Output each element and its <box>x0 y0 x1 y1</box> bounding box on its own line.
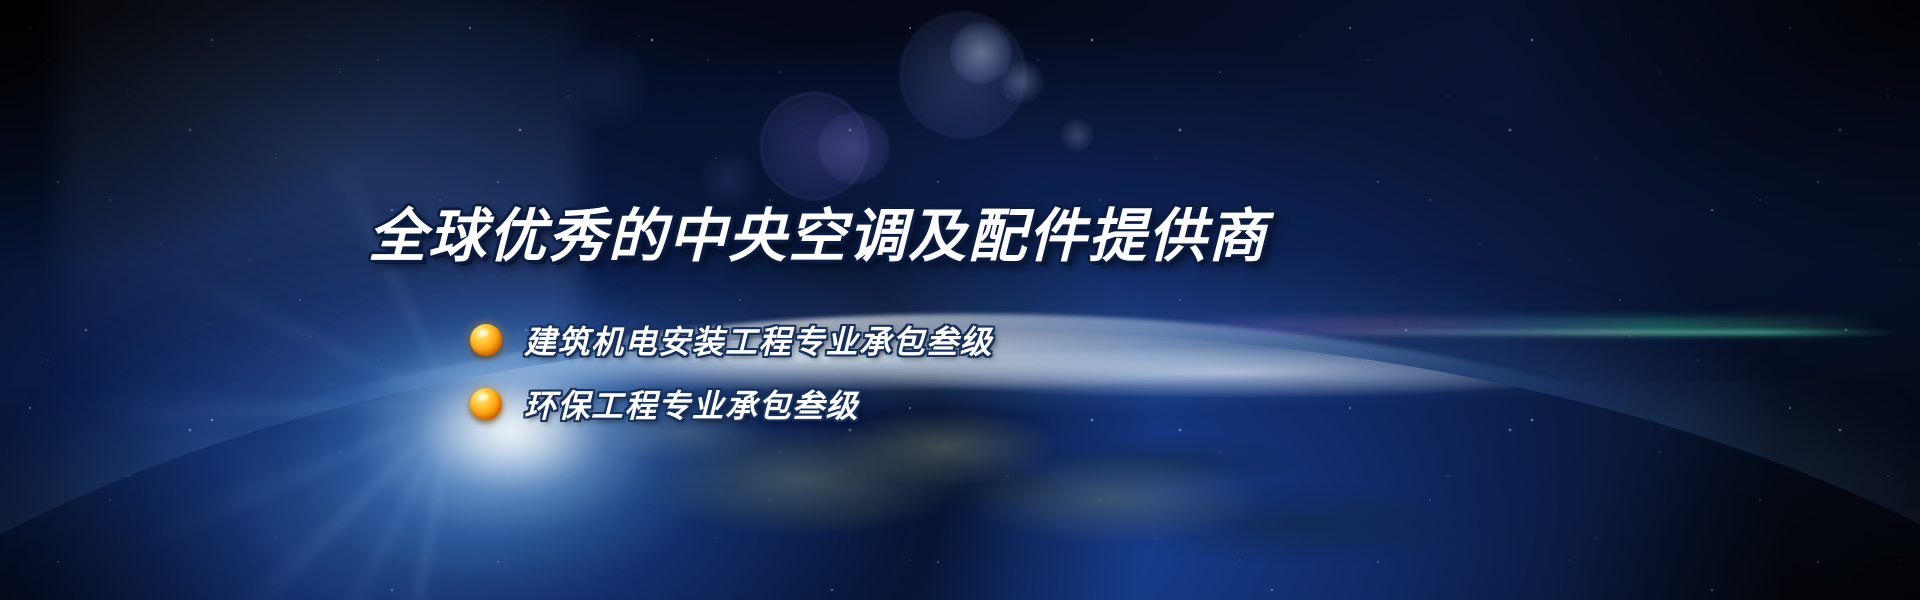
banner-bullet-label-2: 环保工程专业承包叁级 <box>524 381 859 427</box>
banner-bullet-item-2: 环保工程专业承包叁级 <box>470 376 993 432</box>
banner-headline: 全球优秀的中央空调及配件提供商 <box>368 206 1268 267</box>
banner-bullet-label-1: 建筑机电安装工程专业承包叁级 <box>524 317 993 363</box>
banner-bullet-list: 建筑机电安装工程专业承包叁级 环保工程专业承包叁级 <box>470 312 993 440</box>
banner-bullet-item-1: 建筑机电安装工程专业承包叁级 <box>470 312 993 368</box>
hero-banner: 全球优秀的中央空调及配件提供商 建筑机电安装工程专业承包叁级 环保工程专业承包叁… <box>0 0 1920 600</box>
orange-bullet-dot-icon <box>470 324 502 356</box>
banner-content: 全球优秀的中央空调及配件提供商 建筑机电安装工程专业承包叁级 环保工程专业承包叁… <box>0 0 1920 600</box>
orange-bullet-dot-icon <box>470 388 502 420</box>
